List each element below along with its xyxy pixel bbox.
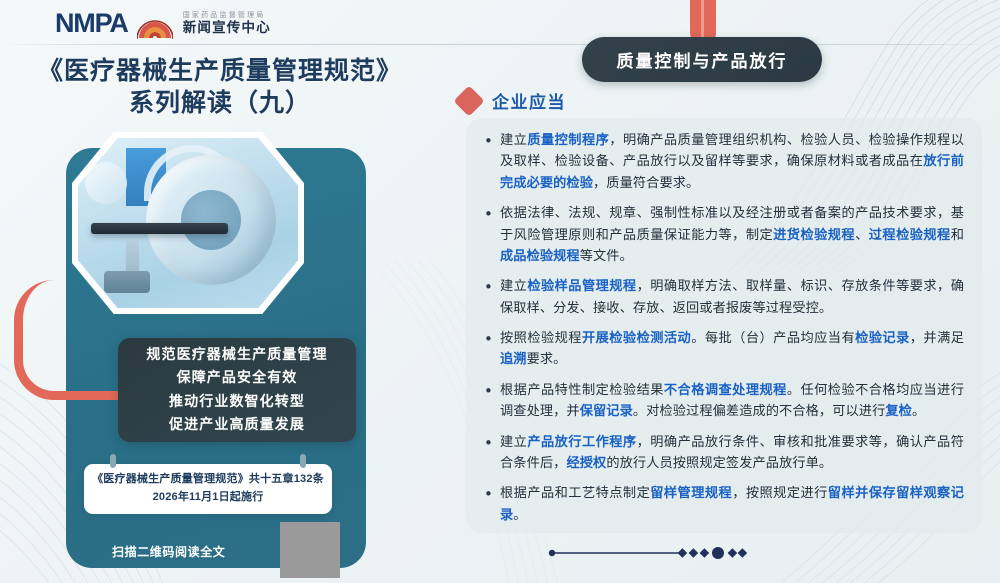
agency-name-large: 新闻宣传中心 [183,21,271,35]
requirement-item: 建立质量控制程序，明确产品质量管理组织机构、检验人员、检验操作规程以及取样、检验… [476,130,964,194]
photo-table-base [104,271,150,293]
header-divider [0,44,1000,45]
body-text-run: ，质量符合要求。 [593,176,699,191]
page-title: 《医疗器械生产质量管理规范》 系列解读（九） [0,55,440,119]
topic-pill: 质量控制与产品放行 [582,37,822,82]
nmpa-wordmark: NMPA [55,8,128,39]
highlighted-term: 产品放行工作程序 [527,435,636,450]
body-text-run: 要求。 [527,352,567,367]
page-title-line-2: 系列解读（九） [0,87,440,119]
requirement-item: 根据产品和工艺特点制定留样管理规程，按照规定进行留样并保存留样观察记录。 [476,483,964,526]
page-title-line-1: 《医疗器械生产质量管理规范》 [0,55,440,87]
body-text-run: 建立 [500,133,527,148]
body-text-run: 。每批（台）产品均应当有 [691,331,855,346]
requirement-item: 建立产品放行工作程序，明确产品放行条件、审核和批准要求等，确认产品符合条件后，经… [476,432,964,475]
highlighted-term: 进货检验规程 [773,228,855,243]
body-text-run: 建立 [500,279,527,294]
poster-canvas: NMPA 国家药品监督管理局 新闻宣传中心 《医疗器械生产质量管理规范》 系列解… [0,0,1000,583]
agency-name-small: 国家药品监督管理局 [183,12,271,19]
highlighted-term: 开展检验检测活动 [582,331,691,346]
slogan-line-4: 促进产业高质量发展 [169,415,305,435]
body-text-run: 、 [855,228,869,243]
section-header: 企业应当 [458,88,566,113]
highlighted-term: 经授权 [566,456,606,471]
highlighted-term: 复检 [885,404,912,419]
slogan-box: 规范医疗器械生产质量管理 保障产品安全有效 推动行业数智化转型 促进产业高质量发… [118,338,356,442]
body-text-run: ，按照规定进行 [732,486,828,501]
body-text-run: 的放行人员按照规定签发产品放行单。 [606,456,832,471]
photo-detector-head [85,162,127,204]
highlighted-term: 成品检验规程 [500,249,580,264]
photo-ct-bore [146,155,276,285]
pin-left-icon [110,454,116,468]
highlighted-term: 追溯 [500,352,527,367]
hexagon-photo-frame [72,132,304,314]
highlighted-term: 保留记录 [580,404,633,419]
section-title-label: 企业应当 [492,88,566,113]
body-text-run: 。 [513,508,526,523]
footer-ornament [548,544,748,562]
body-text-run: ，并满足 [910,331,964,346]
body-text-run: 根据产品和工艺特点制定 [500,486,650,501]
regulation-summary-card: 《医疗器械生产质量管理规范》共十五章132条 2026年11月1日起施行 [84,464,332,514]
body-text-run: 和 [951,228,964,243]
regulation-chapters-text: 《医疗器械生产质量管理规范》共十五章132条 [92,471,324,489]
photo-patient-table [91,223,227,234]
slogan-line-1: 规范医疗器械生产质量管理 [146,345,327,365]
qr-code-label: 扫描二维码阅读全文 [112,543,225,560]
agency-name-block: 国家药品监督管理局 新闻宣传中心 [183,12,271,35]
brand-header: NMPA 国家药品监督管理局 新闻宣传中心 [55,8,271,39]
highlighted-term: 检验记录 [855,331,910,346]
highlighted-term: 质量控制程序 [527,133,609,148]
regulation-effective-date: 2026年11月1日起施行 [153,489,264,507]
body-text-run: 。 [912,404,925,419]
diamond-bullet-icon [453,85,484,116]
body-text-run: 建立 [500,435,527,450]
medical-imaging-photo [78,138,298,308]
slogan-line-3: 推动行业数智化转型 [169,392,305,412]
highlighted-term: 检验样品管理规程 [527,279,636,294]
highlighted-term: 不合格调查处理规程 [664,383,787,398]
pin-right-icon [300,454,306,468]
requirements-list: 建立质量控制程序，明确产品质量管理组织机构、检验人员、检验操作规程以及取样、检验… [476,130,964,526]
body-text-run: 。对检验过程偏差造成的不合格，可以进行 [633,404,885,419]
body-text-run: 按照检验规程 [500,331,582,346]
highlighted-term: 过程检验规程 [869,228,951,243]
requirement-item: 依据法律、法规、规章、强制性标准以及经注册或者备案的产品技术要求，基于风险管理原… [476,203,964,267]
requirement-item: 根据产品特性制定检验结果不合格调查处理规程。任何检验不合格均应当进行调查处理，并… [476,380,964,423]
requirements-card: 建立质量控制程序，明确产品质量管理组织机构、检验人员、检验操作规程以及取样、检验… [466,118,982,533]
nmpa-arc-icon [137,8,173,39]
qr-code-image[interactable] [280,522,340,578]
body-text-run: 等文件。 [580,249,633,264]
qr-code-row[interactable]: 扫描二维码阅读全文 [84,526,334,576]
highlighted-term: 留样管理规程 [650,486,732,501]
body-text-run: 根据产品特性制定检验结果 [500,383,664,398]
topic-pill-label: 质量控制与产品放行 [617,47,788,72]
requirement-item: 按照检验规程开展检验检测活动。每批（台）产品均应当有检验记录，并满足追溯要求。 [476,328,964,371]
slogan-line-2: 保障产品安全有效 [177,368,298,388]
requirement-item: 建立检验样品管理规程，明确取样方法、取样量、标识、存放条件等要求，确保取样、分发… [476,276,964,319]
